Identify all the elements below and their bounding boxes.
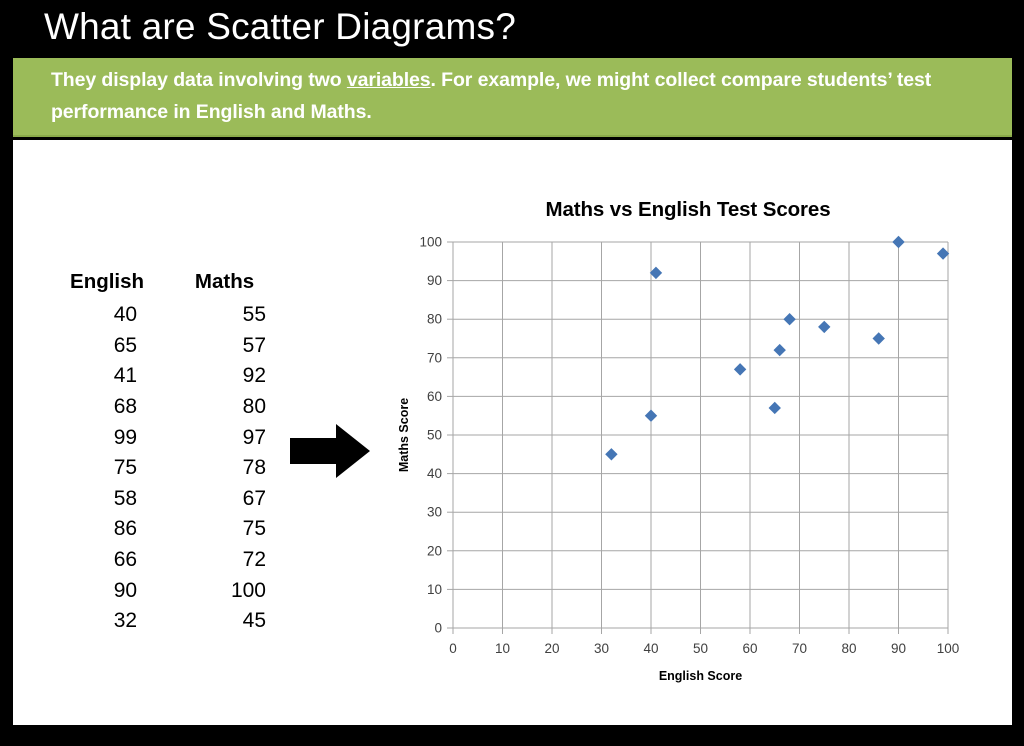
y-tick-label: 100 (419, 235, 442, 250)
cell-english: 41 (53, 361, 161, 392)
cell-english: 65 (53, 331, 161, 362)
chart-gridlines (453, 242, 948, 628)
x-tick-label: 20 (544, 641, 559, 656)
right-arrow-icon (290, 424, 370, 478)
column-header-maths: Maths (161, 270, 288, 300)
data-point-marker (645, 410, 657, 422)
table-header: English Maths (53, 270, 288, 300)
data-point-marker (783, 313, 795, 325)
banner: They display data involving two variable… (13, 58, 1012, 137)
data-point-marker (937, 247, 949, 259)
table-row: 8675 (53, 514, 288, 545)
y-tick-label: 80 (427, 312, 442, 327)
chart-data-points (605, 236, 949, 461)
y-tick-label: 30 (427, 505, 442, 520)
slide: What are Scatter Diagrams? They display … (0, 0, 1024, 746)
cell-english: 86 (53, 514, 161, 545)
table-row: 4055 (53, 300, 288, 331)
cell-maths: 45 (161, 606, 288, 637)
cell-maths: 100 (161, 575, 288, 606)
table-row: 7578 (53, 453, 288, 484)
x-tick-label: 10 (495, 641, 510, 656)
chart-y-tick-labels: 0102030405060708090100 (419, 235, 442, 636)
cell-english: 75 (53, 453, 161, 484)
table-body: 4055655741926880999775785867867566729010… (53, 300, 288, 637)
cell-maths: 57 (161, 331, 288, 362)
data-point-marker (769, 402, 781, 414)
data-point-marker (734, 363, 746, 375)
page-title: What are Scatter Diagrams? (44, 2, 944, 52)
cell-maths: 92 (161, 361, 288, 392)
chart-plot: 0102030405060708090100 01020304050607080… (388, 198, 988, 698)
cell-maths: 67 (161, 484, 288, 515)
cell-english: 90 (53, 575, 161, 606)
y-tick-label: 60 (427, 389, 442, 404)
data-point-marker (605, 448, 617, 460)
y-tick-label: 70 (427, 350, 442, 365)
data-point-marker (818, 321, 830, 333)
cell-maths: 97 (161, 422, 288, 453)
data-point-marker (650, 267, 662, 279)
cell-english: 58 (53, 484, 161, 515)
cell-maths: 72 (161, 545, 288, 576)
cell-maths: 80 (161, 392, 288, 423)
x-tick-label: 70 (792, 641, 807, 656)
cell-maths: 55 (161, 300, 288, 331)
column-header-english: English (53, 270, 161, 300)
cell-english: 99 (53, 422, 161, 453)
data-point-marker (873, 332, 885, 344)
y-axis-title: Maths Score (397, 398, 411, 472)
table-header-row: English Maths (53, 270, 288, 300)
table-row: 9997 (53, 422, 288, 453)
x-tick-label: 100 (937, 641, 960, 656)
table-row: 6557 (53, 331, 288, 362)
banner-text-part1: They display data involving two (51, 69, 347, 91)
table-row: 6880 (53, 392, 288, 423)
y-tick-label: 20 (427, 543, 442, 558)
y-tick-label: 10 (427, 582, 442, 597)
x-tick-label: 50 (693, 641, 708, 656)
table-row: 3245 (53, 606, 288, 637)
x-tick-label: 40 (643, 641, 658, 656)
y-tick-label: 40 (427, 466, 442, 481)
table-row: 6672 (53, 545, 288, 576)
cell-english: 68 (53, 392, 161, 423)
x-tick-label: 0 (449, 641, 457, 656)
banner-emphasis-variables: variables (347, 69, 431, 91)
data-point-marker (774, 344, 786, 356)
table-row: 4192 (53, 361, 288, 392)
y-tick-label: 50 (427, 428, 442, 443)
banner-text: They display data involving two variable… (51, 64, 996, 128)
y-tick-label: 90 (427, 273, 442, 288)
content-area: English Maths 40556557419268809997757858… (13, 140, 1012, 725)
data-point-marker (892, 236, 904, 248)
cell-maths: 78 (161, 453, 288, 484)
cell-english: 32 (53, 606, 161, 637)
chart-x-tick-labels: 0102030405060708090100 (449, 641, 959, 656)
x-axis-title: English Score (659, 669, 742, 683)
data-table: English Maths 40556557419268809997757858… (53, 270, 288, 637)
x-tick-label: 80 (841, 641, 856, 656)
y-tick-label: 0 (434, 621, 442, 636)
x-tick-label: 60 (742, 641, 757, 656)
x-tick-label: 90 (891, 641, 906, 656)
scores-table: English Maths 40556557419268809997757858… (53, 270, 288, 637)
cell-english: 40 (53, 300, 161, 331)
cell-english: 66 (53, 545, 161, 576)
table-row: 90100 (53, 575, 288, 606)
scatter-chart: Maths vs English Test Scores 01020304050… (388, 198, 988, 698)
x-tick-label: 30 (594, 641, 609, 656)
cell-maths: 75 (161, 514, 288, 545)
chart-tick-marks (447, 242, 948, 634)
table-row: 5867 (53, 484, 288, 515)
